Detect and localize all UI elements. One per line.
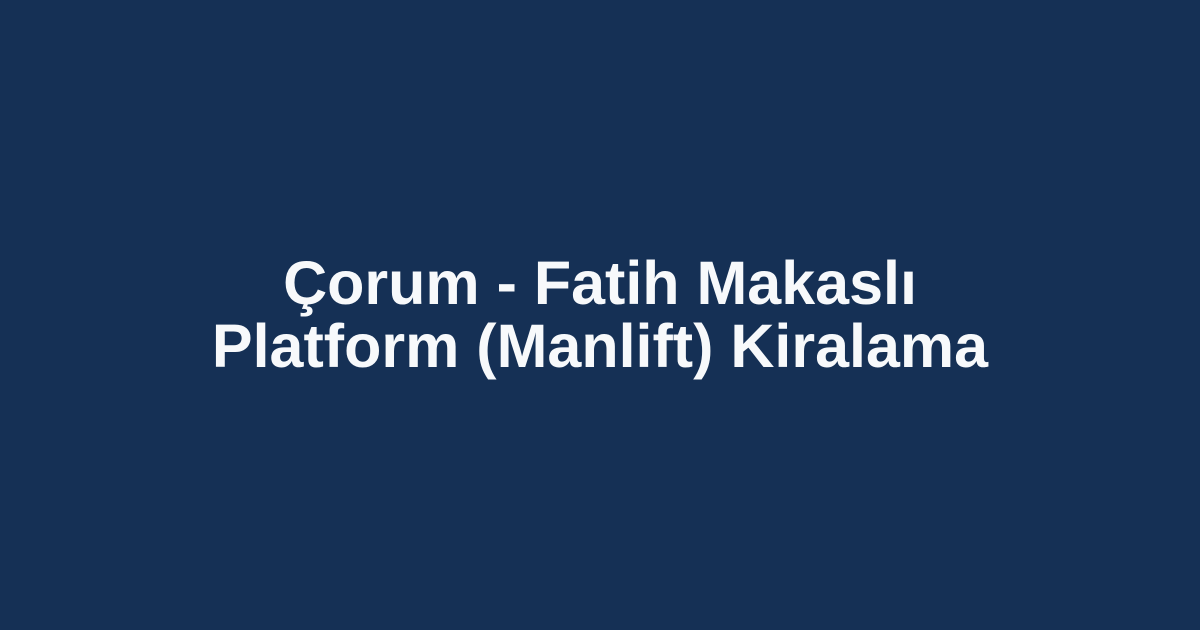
share-card: Çorum - Fatih Makaslı Platform (Manlift)… — [0, 0, 1200, 630]
share-card-content: Çorum - Fatih Makaslı Platform (Manlift)… — [0, 252, 1200, 378]
page-title: Çorum - Fatih Makaslı Platform (Manlift)… — [200, 252, 1000, 378]
